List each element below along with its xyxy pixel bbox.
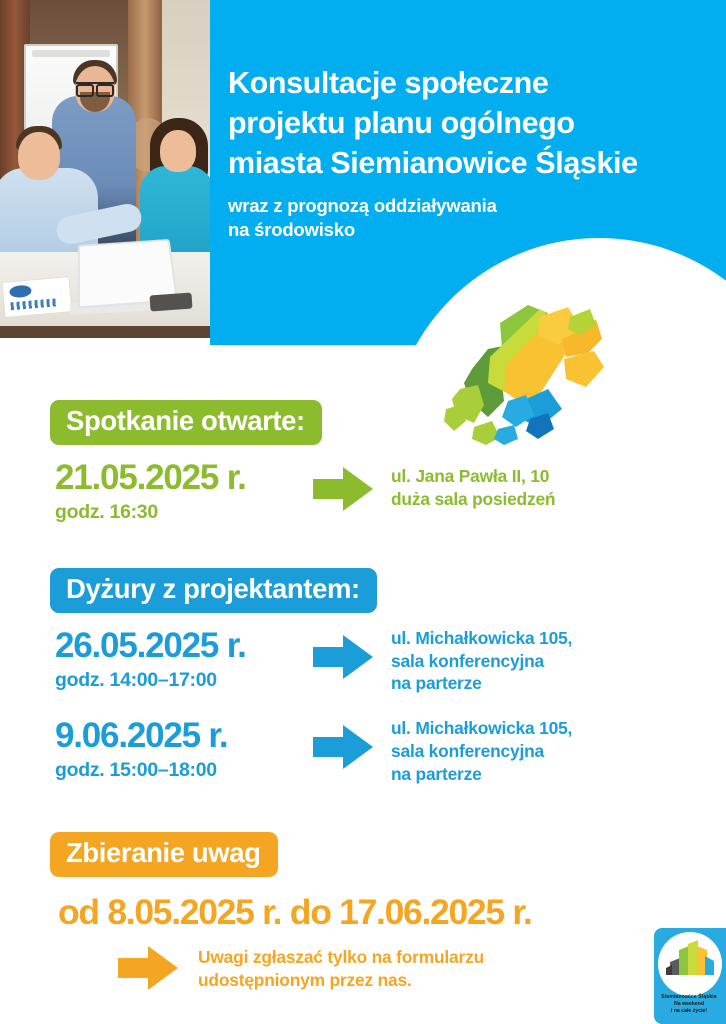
poster-title-line-2: projektu planu ogólnego [228,106,575,140]
entry-row-dyzur-2: 9.06.2025 r. godz. 15:00–18:00 ul. Micha… [55,717,726,785]
city-badge-text: Siemianowice Śląskie Na weekend i na cał… [654,994,724,1015]
section-zbieranie-uwag: Zbieranie uwag od 8.05.2025 r. do 17.06.… [0,832,726,992]
entry-date-block: 9.06.2025 r. godz. 15:00–18:00 [55,717,313,782]
section-heading-spotkanie-otwarte: Spotkanie otwarte: [50,400,322,445]
entry-place-line-3: na parterze [391,672,572,695]
city-badge-line-2: Na weekend [654,1001,724,1008]
section-heading-dyzury: Dyżury z projektantem: [50,568,377,613]
entry-place-line-2: duża sala posiedzeń [391,488,555,511]
entry-row-dyzur-1: 26.05.2025 r. godz. 14:00–17:00 ul. Mich… [55,627,726,695]
entry-date: 26.05.2025 r. [55,627,313,664]
entry-date: 9.06.2025 r. [55,717,313,754]
poster-title-line-3: miasta Siemianowice Śląskie [228,146,638,180]
poster-title: Konsultacje społeczne projektu planu ogó… [228,64,714,184]
arrow-right-icon [313,465,375,513]
arrow-right-icon [118,944,180,992]
entry-hour: godz. 14:00–17:00 [55,668,313,692]
section-dyzury-z-projektantem: Dyżury z projektantem: 26.05.2025 r. god… [0,568,726,786]
arrow-right-icon [313,723,375,771]
entry-date: 21.05.2025 r. [55,459,313,496]
city-badge-line-3: i na całe życie! [654,1008,724,1015]
section-heading-zbieranie-uwag: Zbieranie uwag [50,832,278,877]
poster-subtitle-line-2: na środowisko [228,219,355,240]
note-line-2: udostępnionym przez nas. [198,969,484,992]
entry-place-line-1: ul. Michałkowicka 105, [391,717,572,740]
zbieranie-uwag-date-range: od 8.05.2025 r. do 17.06.2025 r. [58,893,726,932]
entry-row-spotkanie-1: 21.05.2025 r. godz. 16:30 ul. Jana Pawła… [55,459,726,524]
entry-place-block: ul. Michałkowicka 105, sala konferencyjn… [391,627,572,695]
photo-standing-man-glasses [76,82,114,93]
photo-phone [149,293,192,312]
entry-place-line-1: ul. Jana Pawła II, 10 [391,465,555,488]
entry-place-line-2: sala konferencyjna [391,650,572,673]
arrow-right-icon [313,633,375,681]
section-spotkanie-otwarte: Spotkanie otwarte: 21.05.2025 r. godz. 1… [0,400,726,524]
photo-charts-paper [3,277,72,317]
city-badge-line-1: Siemianowice Śląskie [654,994,724,1001]
entry-place-block: ul. Jana Pawła II, 10 duża sala posiedze… [391,465,555,511]
poster-subtitle: wraz z prognozą oddziaływania na środowi… [228,194,714,243]
zbieranie-uwag-note-block: Uwagi zgłaszać tylko na formularzu udost… [198,946,484,992]
header-text-block: Konsultacje społeczne projektu planu ogó… [228,64,714,243]
city-buildings-icon [658,932,722,996]
note-line-1: Uwagi zgłaszać tylko na formularzu [198,946,484,969]
meeting-photo [0,0,210,338]
entry-date-block: 26.05.2025 r. godz. 14:00–17:00 [55,627,313,692]
city-badge-circle [658,932,722,996]
entry-place-line-2: sala konferencyjna [391,740,572,763]
poster-root: Konsultacje społeczne projektu planu ogó… [0,0,726,1024]
poster-title-line-1: Konsultacje społeczne [228,66,548,100]
photo-woman-face [160,130,196,172]
photo-seated-man-head [18,132,60,180]
poster-subtitle-line-1: wraz z prognozą oddziaływania [228,195,497,216]
entry-place-block: ul. Michałkowicka 105, sala konferencyjn… [391,717,572,785]
entry-date-block: 21.05.2025 r. godz. 16:30 [55,459,313,524]
entry-hour: godz. 16:30 [55,500,313,524]
entry-place-line-1: ul. Michałkowicka 105, [391,627,572,650]
zbieranie-uwag-note-row: Uwagi zgłaszać tylko na formularzu udost… [118,942,726,992]
entry-place-line-3: na parterze [391,763,572,786]
entry-hour: godz. 15:00–18:00 [55,758,313,782]
